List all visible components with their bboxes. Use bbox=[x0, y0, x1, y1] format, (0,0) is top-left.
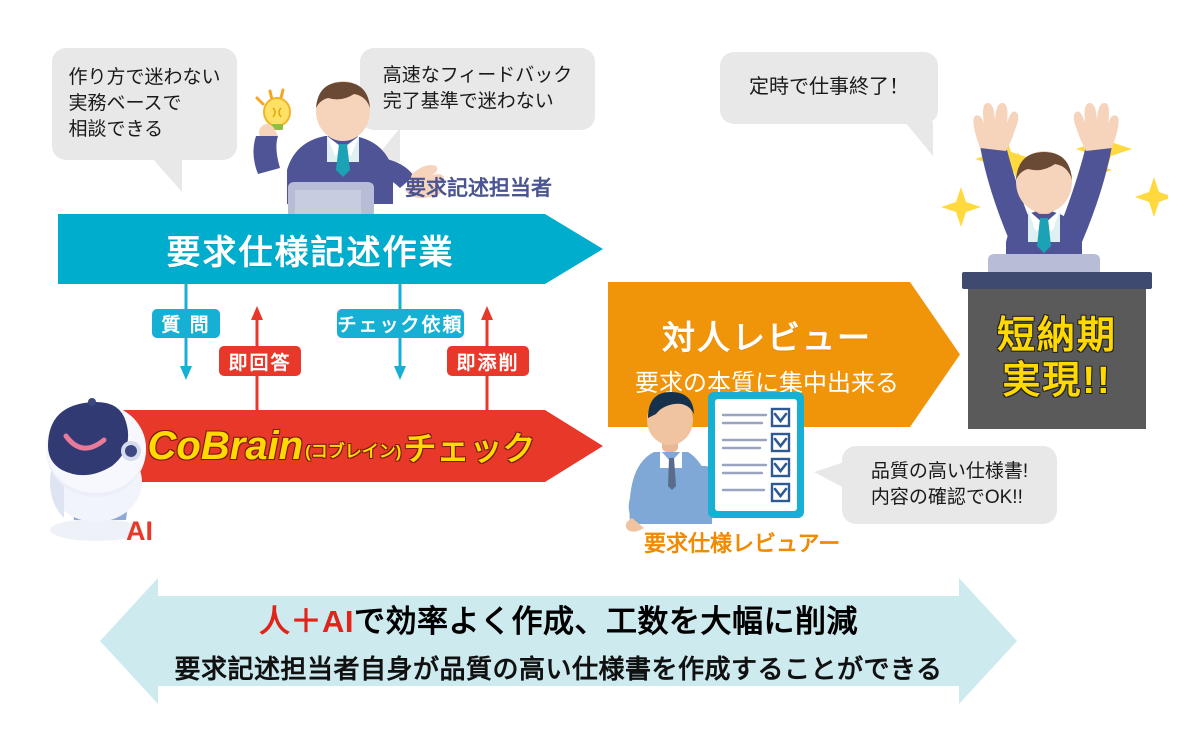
banner-cobrain-suffix: チェック bbox=[403, 422, 535, 470]
happy-person-illustration bbox=[918, 82, 1168, 282]
badge-instant-correction-text: 即添削 bbox=[456, 348, 519, 375]
writer-person-illustration bbox=[232, 78, 472, 228]
badge-check-request: チェック依頼 bbox=[337, 309, 464, 338]
banner-spec-writing: 要求仕様記述作業 bbox=[58, 214, 603, 284]
lightbulb-icon bbox=[257, 90, 290, 130]
ai-robot-illustration bbox=[22, 398, 202, 548]
badge-question-text: 質 問 bbox=[161, 310, 210, 337]
ai-role-label: AI bbox=[126, 516, 153, 547]
result-box-line2: 実現!! bbox=[1002, 359, 1111, 404]
footer-banner: 人＋AIで効率よく作成、工数を大幅に削減 要求記述担当者自身が品質の高い仕様書を… bbox=[100, 578, 1017, 704]
footer-line1-highlight: 人＋AI bbox=[259, 604, 354, 639]
bubble-reviewer: 品質の高い仕様書! 内容の確認でOK!! bbox=[842, 446, 1057, 524]
banner-human-review-title: 対人レビュー bbox=[662, 311, 872, 359]
result-box-line1: 短納期 bbox=[997, 314, 1117, 359]
badge-instant-correction: 即添削 bbox=[447, 346, 529, 376]
badge-question: 質 問 bbox=[152, 309, 220, 338]
footer-line2: 要求記述担当者自身が品質の高い仕様書を作成することができる bbox=[175, 649, 943, 686]
raised-hand-right-icon bbox=[1074, 103, 1119, 151]
writer-role-label: 要求記述担当者 bbox=[405, 172, 552, 202]
banner-spec-writing-text: 要求仕様記述作業 bbox=[167, 225, 455, 274]
bubble-writer-left: 作り方で迷わない 実務ベースで 相談できる bbox=[52, 48, 237, 160]
bubble-writer-left-text: 作り方で迷わない 実務ベースで 相談できる bbox=[68, 65, 220, 144]
ai-role-label-text: AI bbox=[126, 516, 153, 546]
banner-cobrain-paren: (コブレイン) bbox=[305, 437, 401, 462]
result-box-lid bbox=[962, 272, 1152, 289]
footer-line1-rest: で効率よく作成、工数を大幅に削減 bbox=[354, 604, 858, 639]
badge-check-request-text: チェック依頼 bbox=[337, 310, 463, 337]
raised-hand-left-icon bbox=[973, 103, 1018, 151]
badge-instant-answer-text: 即回答 bbox=[228, 348, 291, 375]
writer-role-label-text: 要求記述担当者 bbox=[405, 177, 552, 200]
result-box: 短納期 実現!! bbox=[968, 289, 1146, 429]
infographic-canvas: 作り方で迷わない 実務ベースで 相談できる 高速なフィードバック 完了基準で迷わ… bbox=[0, 0, 1200, 750]
bubble-writer-left-tail bbox=[152, 158, 182, 192]
bubble-happy-text: 定時で仕事終了！ bbox=[749, 74, 909, 102]
badge-instant-answer: 即回答 bbox=[219, 346, 301, 376]
bubble-reviewer-text: 品質の高い仕様書! 内容の確認でOK!! bbox=[871, 459, 1028, 511]
reviewer-role-label: 要求仕様レビュアー bbox=[644, 526, 840, 558]
review-checklist-illustration bbox=[706, 390, 806, 520]
bubble-happy: 定時で仕事終了！ bbox=[720, 52, 938, 124]
reviewer-role-label-text: 要求仕様レビュアー bbox=[644, 531, 840, 556]
footer-line1: 人＋AIで効率よく作成、工数を大幅に削減 bbox=[259, 596, 858, 641]
